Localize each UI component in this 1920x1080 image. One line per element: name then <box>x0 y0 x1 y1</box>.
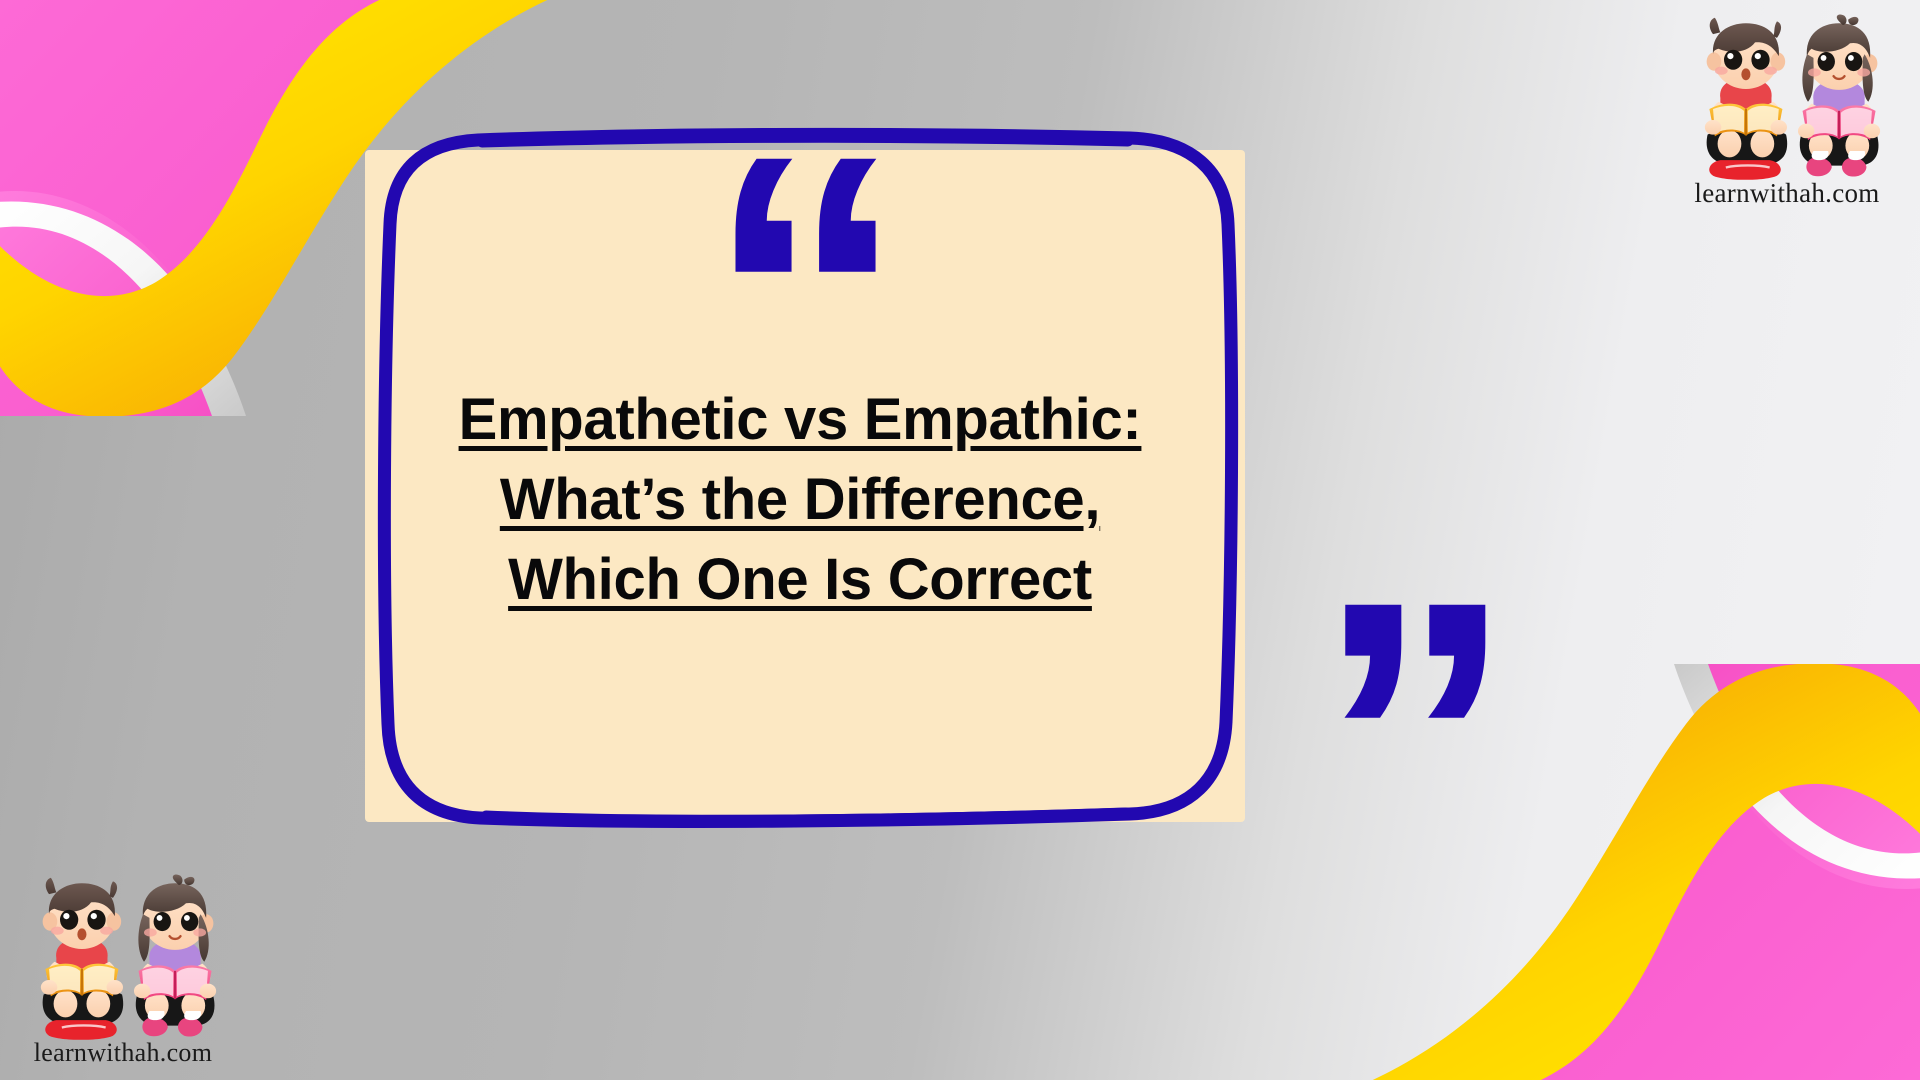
title-line-1: Empathetic vs Empathic: <box>380 380 1220 460</box>
two-children-reading-books-icon <box>18 874 228 1044</box>
poster-canvas: “ ” Empathetic vs Empathic: What’s the D… <box>0 0 1920 1080</box>
poster-title: Empathetic vs Empathic: What’s the Diffe… <box>380 380 1220 620</box>
logo-top-right[interactable]: learnwithah.com <box>1682 14 1892 209</box>
title-line-3: Which One Is Correct <box>380 540 1220 620</box>
logo-text: learnwithah.com <box>1682 178 1892 209</box>
logo-text: learnwithah.com <box>18 1038 228 1068</box>
closing-quote-mark: ” <box>1315 542 1509 942</box>
two-children-reading-books-icon <box>1682 14 1892 184</box>
logo-bottom-left[interactable]: learnwithah.com <box>18 874 228 1068</box>
title-line-2: What’s the Difference, <box>380 460 1220 540</box>
